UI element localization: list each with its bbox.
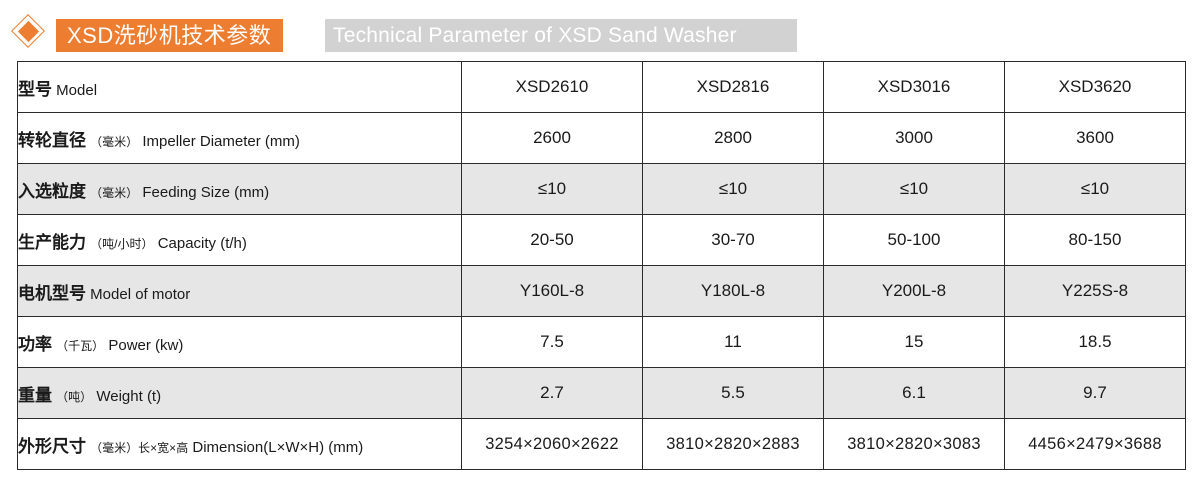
value-cell: 15 [824, 317, 1005, 368]
value-cell: 50-100 [824, 215, 1005, 266]
value-cell: ≤10 [1005, 164, 1186, 215]
spec-table: 型号 ModelXSD2610XSD2816XSD3016XSD3620转轮直径… [17, 61, 1186, 470]
row-label-en: Weight (t) [96, 388, 161, 405]
column-header-cell: XSD2816 [643, 62, 824, 113]
value-cell: 4456×2479×3688 [1005, 419, 1186, 470]
row-label-cn: 型号 [18, 80, 52, 99]
row-label-cn: 重量 [18, 386, 52, 405]
value-cell: 2800 [643, 113, 824, 164]
column-header-cell: XSD2610 [462, 62, 643, 113]
column-header-cell: XSD3016 [824, 62, 1005, 113]
row-label-cell: 转轮直径 （毫米） Impeller Diameter (mm) [18, 113, 462, 164]
page-title: XSD洗砂机技术参数 [56, 19, 283, 52]
row-label-unit: （吨） [56, 390, 92, 404]
row-label-unit: （毫米） [90, 186, 138, 200]
value-cell: 80-150 [1005, 215, 1186, 266]
row-label-unit: （毫米） [90, 135, 138, 149]
row-label-cn: 生产能力 [18, 233, 86, 252]
value-cell: 3810×2820×2883 [643, 419, 824, 470]
spec-table-container: 型号 ModelXSD2610XSD2816XSD3016XSD3620转轮直径… [17, 61, 1180, 470]
value-cell: 7.5 [462, 317, 643, 368]
table-row: 型号 ModelXSD2610XSD2816XSD3016XSD3620 [18, 62, 1186, 113]
value-cell: ≤10 [824, 164, 1005, 215]
row-label-cell: 重量 （吨） Weight (t) [18, 368, 462, 419]
value-cell: Y160L-8 [462, 266, 643, 317]
value-cell: Y200L-8 [824, 266, 1005, 317]
row-label-cell: 外形尺寸 （毫米）长×宽×高 Dimension(L×W×H) (mm) [18, 419, 462, 470]
table-row: 转轮直径 （毫米） Impeller Diameter (mm)26002800… [18, 113, 1186, 164]
row-label-unit: （毫米）长×宽×高 [90, 441, 188, 455]
page-header: XSD洗砂机技术参数 Technical Parameter of XSD Sa… [0, 0, 1196, 61]
value-cell: ≤10 [462, 164, 643, 215]
row-label-cell: 功率 （千瓦） Power (kw) [18, 317, 462, 368]
value-cell: ≤10 [643, 164, 824, 215]
row-label-cell: 生产能力 （吨/小时） Capacity (t/h) [18, 215, 462, 266]
row-label-unit: （千瓦） [56, 339, 104, 353]
table-row: 功率 （千瓦） Power (kw)7.5111518.5 [18, 317, 1186, 368]
row-label-en: Power (kw) [108, 337, 183, 354]
table-row: 入选粒度 （毫米） Feeding Size (mm)≤10≤10≤10≤10 [18, 164, 1186, 215]
row-label-cell: 入选粒度 （毫米） Feeding Size (mm) [18, 164, 462, 215]
table-row: 生产能力 （吨/小时） Capacity (t/h)20-5030-7050-1… [18, 215, 1186, 266]
row-label-cn: 转轮直径 [18, 131, 86, 150]
row-label-cn: 电机型号 [18, 284, 86, 303]
column-header-cell: XSD3620 [1005, 62, 1186, 113]
value-cell: 3810×2820×3083 [824, 419, 1005, 470]
value-cell: 11 [643, 317, 824, 368]
value-cell: 2.7 [462, 368, 643, 419]
row-label-en: Dimension(L×W×H) (mm) [192, 439, 363, 456]
diamond-icon [14, 17, 50, 53]
row-label-en: Impeller Diameter (mm) [142, 133, 300, 150]
table-row: 重量 （吨） Weight (t)2.75.56.19.7 [18, 368, 1186, 419]
row-label-unit: （吨/小时） [90, 237, 153, 251]
value-cell: 2600 [462, 113, 643, 164]
row-label-en: Model of motor [90, 286, 190, 303]
value-cell: 3000 [824, 113, 1005, 164]
row-label-cn: 外形尺寸 [18, 437, 86, 456]
value-cell: 5.5 [643, 368, 824, 419]
row-label-en: Capacity (t/h) [158, 235, 247, 252]
value-cell: 6.1 [824, 368, 1005, 419]
value-cell: 3254×2060×2622 [462, 419, 643, 470]
row-label-cn: 功率 [18, 335, 52, 354]
table-row: 外形尺寸 （毫米）长×宽×高 Dimension(L×W×H) (mm)3254… [18, 419, 1186, 470]
value-cell: Y225S-8 [1005, 266, 1186, 317]
page-subtitle: Technical Parameter of XSD Sand Washer [325, 19, 797, 52]
value-cell: Y180L-8 [643, 266, 824, 317]
row-label-en: Model [56, 82, 97, 99]
value-cell: 18.5 [1005, 317, 1186, 368]
row-label-cell: 型号 Model [18, 62, 462, 113]
value-cell: 20-50 [462, 215, 643, 266]
table-row: 电机型号 Model of motorY160L-8Y180L-8Y200L-8… [18, 266, 1186, 317]
value-cell: 3600 [1005, 113, 1186, 164]
value-cell: 9.7 [1005, 368, 1186, 419]
row-label-cell: 电机型号 Model of motor [18, 266, 462, 317]
row-label-en: Feeding Size (mm) [142, 184, 269, 201]
row-label-cn: 入选粒度 [18, 182, 86, 201]
value-cell: 30-70 [643, 215, 824, 266]
